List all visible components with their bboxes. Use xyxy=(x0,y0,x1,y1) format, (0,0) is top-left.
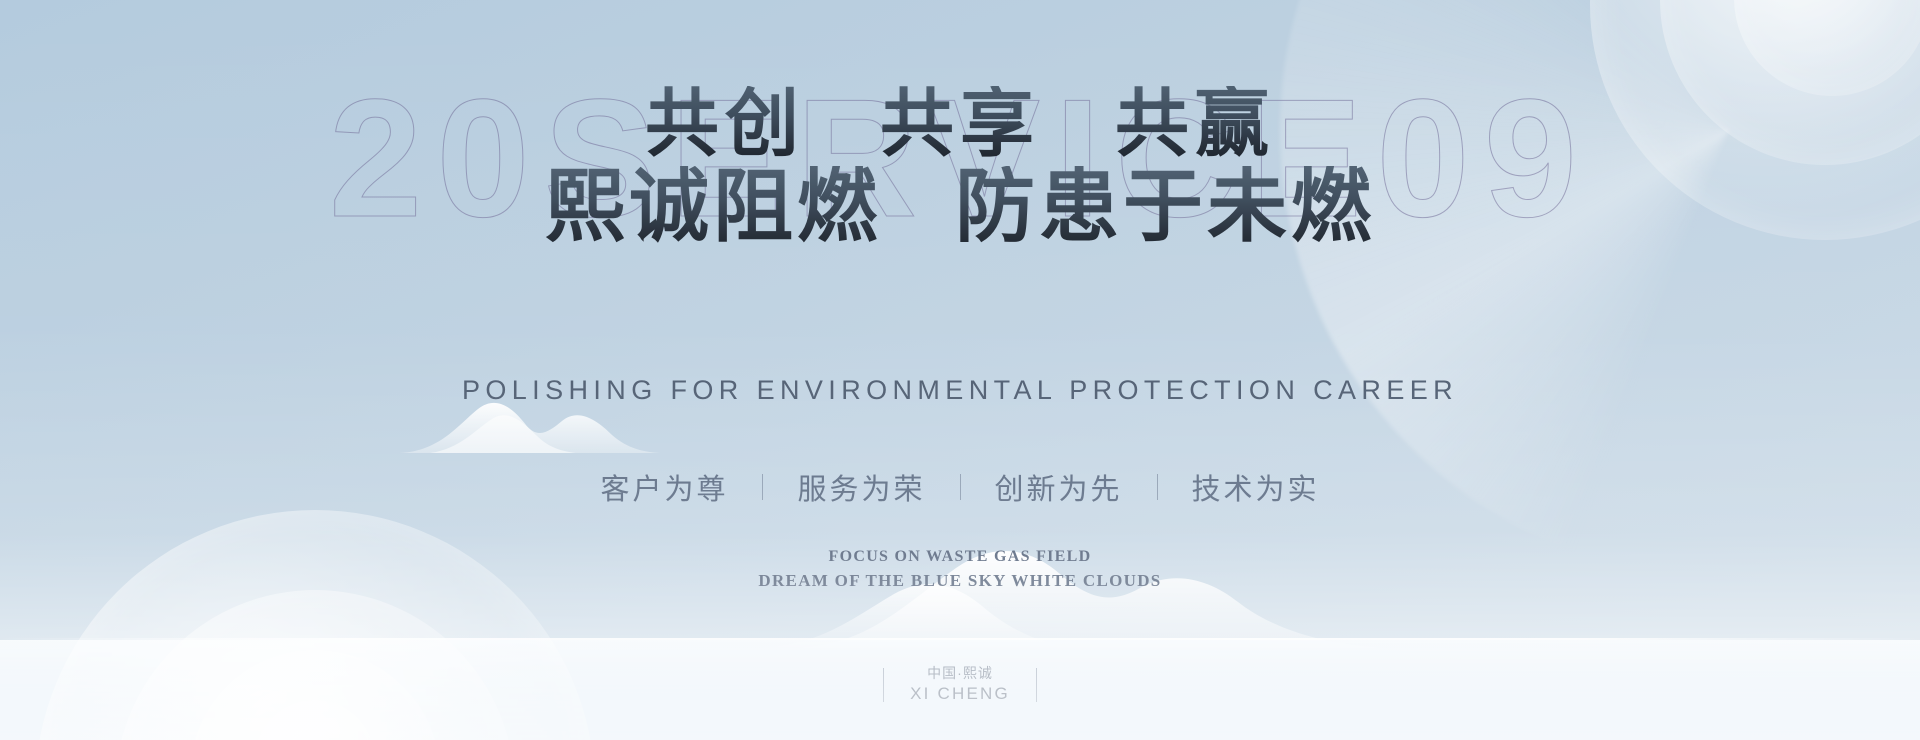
value-item-4: 技术为实 xyxy=(1192,466,1320,508)
brand-name-en: XI CHENG xyxy=(910,683,1010,706)
headline-line-2: 熙诚阻燃 防患于未燃 xyxy=(0,166,1920,251)
headline-line-1: 共创 共享 共赢 xyxy=(0,86,1920,164)
brand-divider-right xyxy=(1036,668,1037,702)
brand-text: 中国·熙诚 XI CHENG xyxy=(910,664,1010,706)
brand-name-cn: 中国·熙诚 xyxy=(910,664,1010,683)
headline-line-1-part-2: 共享 xyxy=(880,84,1040,166)
english-tagline: POLISHING FOR ENVIRONMENTAL PROTECTION C… xyxy=(0,375,1920,406)
value-separator xyxy=(762,474,763,500)
value-item-1: 客户为尊 xyxy=(600,466,728,508)
headline-line-2-part-2: 防患于未燃 xyxy=(955,164,1375,252)
headline-block: 共创 共享 共赢 熙诚阻燃 防患于未燃 xyxy=(0,86,1920,251)
brand-lockup: 中国·熙诚 XI CHENG xyxy=(0,664,1920,706)
value-separator xyxy=(1157,474,1158,500)
headline-line-1-part-1: 共创 xyxy=(645,84,805,166)
value-item-2: 服务为荣 xyxy=(797,466,925,508)
value-separator xyxy=(960,474,961,500)
value-item-3: 创新为先 xyxy=(995,466,1123,508)
headline-line-2-part-1: 熙诚阻燃 xyxy=(545,164,881,252)
headline-line-1-part-3: 共赢 xyxy=(1115,84,1275,166)
promo-banner: 20SERVICE09 共创 共享 共赢 熙诚阻燃 防患于未燃 POLISHIN… xyxy=(0,0,1920,740)
values-row: 客户为尊 服务为荣 创新为先 技术为实 xyxy=(0,466,1920,508)
brand-divider-left xyxy=(883,668,884,702)
